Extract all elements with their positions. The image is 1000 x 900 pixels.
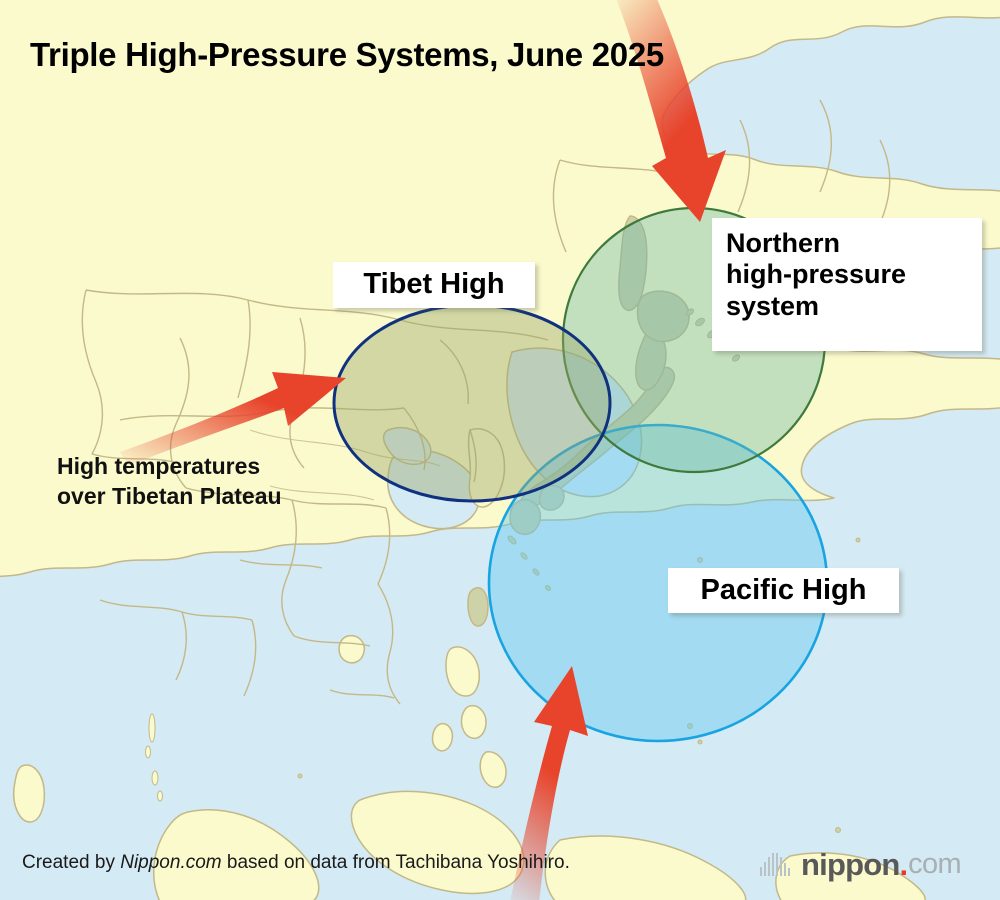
label-pacific-high: Pacific High — [668, 568, 899, 613]
footer-credit: Created by Nippon.com based on data from… — [22, 852, 570, 874]
logo-tld: com — [908, 850, 961, 879]
label-tibetan-plateau-note: High temperatures over Tibetan Plateau — [57, 452, 282, 512]
label-northern-system: Northern high-pressure system — [712, 218, 982, 351]
nippon-logo[interactable]: nippon . com — [760, 845, 961, 883]
northern-inflow-arrow — [612, 0, 726, 222]
credit-brand: Nippon.com — [120, 852, 221, 873]
page-title: Triple High-Pressure Systems, June 2025 — [30, 36, 664, 74]
infographic-canvas: Triple High-Pressure Systems, June 2025 … — [0, 0, 1000, 900]
logo-wordmark: nippon — [801, 849, 900, 880]
tibet-high-circle — [334, 305, 610, 501]
label-tibet-high: Tibet High — [333, 262, 535, 308]
credit-prefix: Created by — [22, 852, 120, 873]
pressure-system-overlay — [0, 0, 1000, 900]
credit-suffix: based on data from Tachibana Yoshihiro. — [222, 852, 570, 873]
logo-red-dot: . — [900, 849, 909, 880]
logo-bars-icon — [760, 852, 792, 876]
